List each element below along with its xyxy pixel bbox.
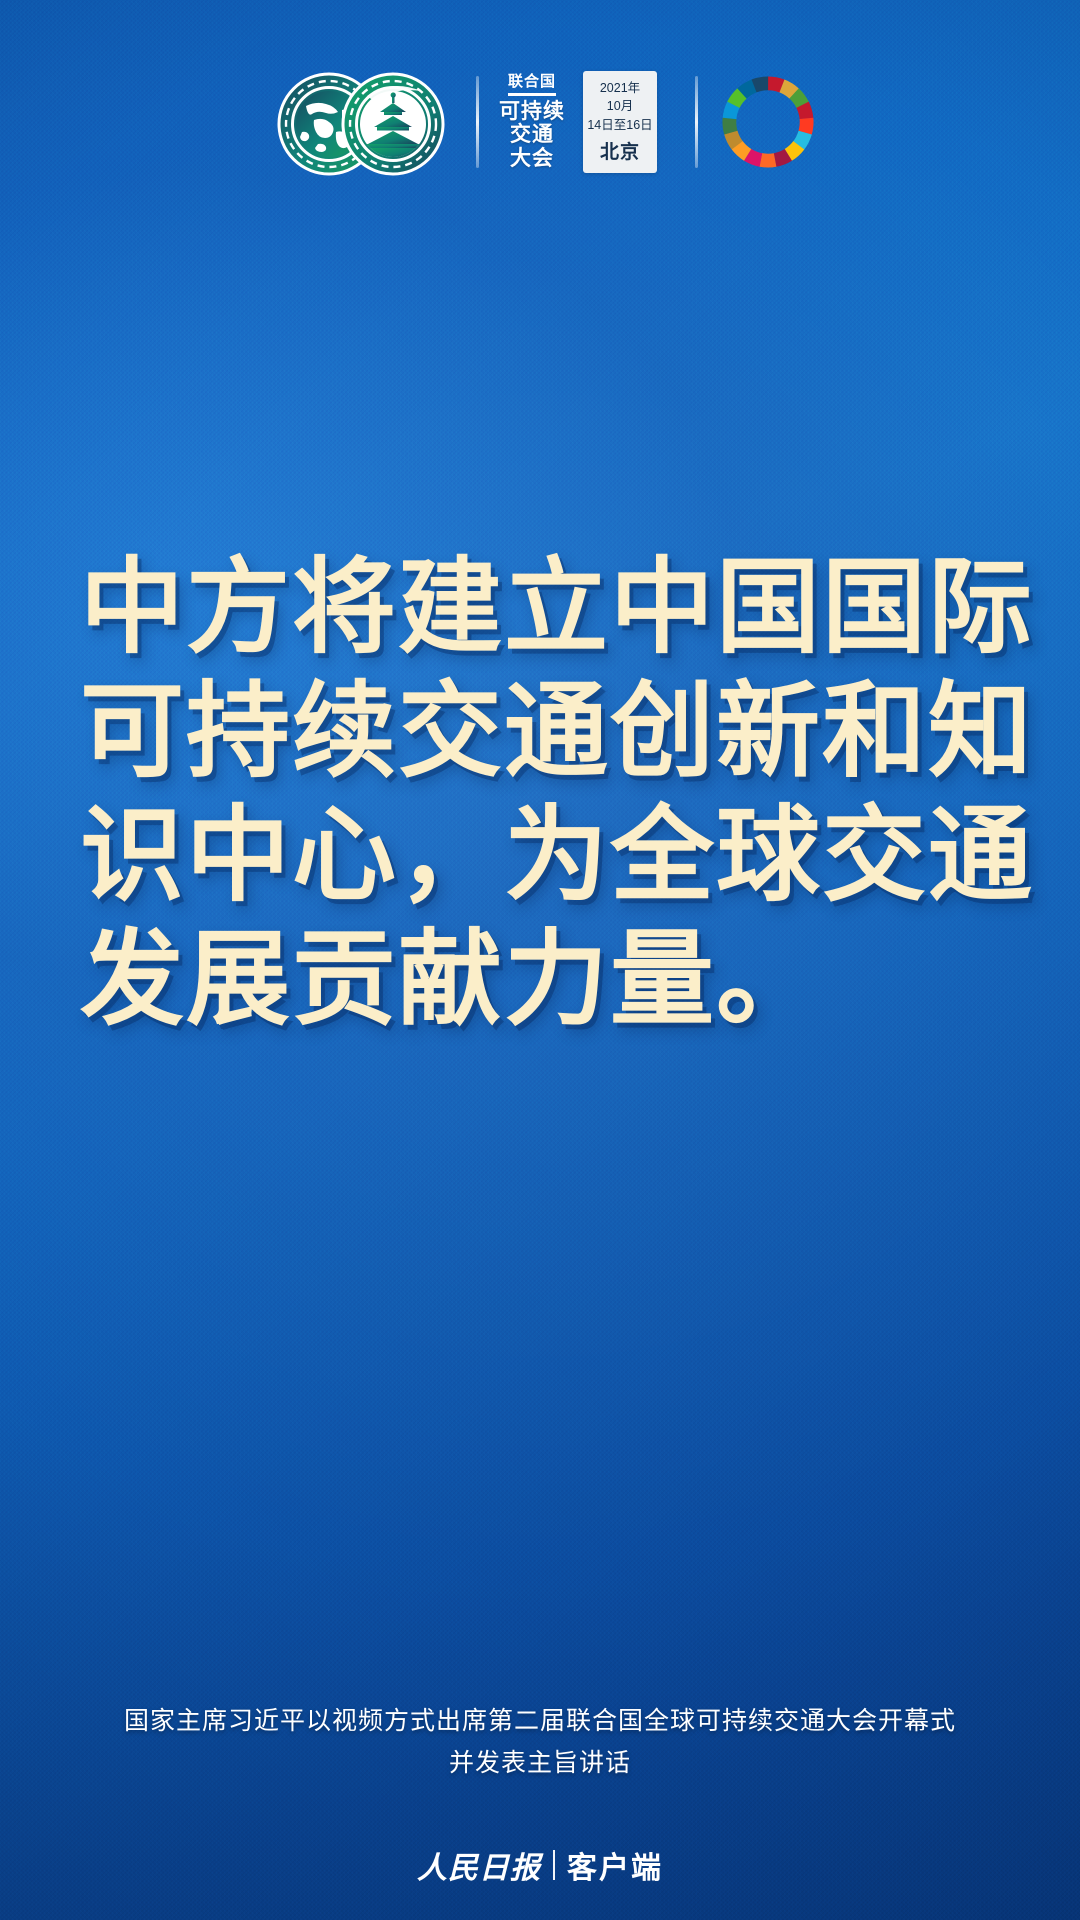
brand-divider-icon (553, 1850, 555, 1880)
conference-name-line-3: 大会 (510, 147, 554, 171)
headline-line-1: 中方将建立中国国际 (80, 545, 940, 669)
event-month: 10月 (607, 97, 633, 115)
headline-block: 中方将建立中国国际 可持续交通创新和知 识中心，为全球交通 发展贡献力量。 (80, 545, 940, 1041)
conference-logo-lockup: 联合国 可持续 交通 大会 2021年 10月 14日至16日 北京 (0, 62, 1080, 182)
product-name: 客户端 (567, 1843, 663, 1887)
event-year: 2021年 (600, 79, 640, 97)
caption-block: 国家主席习近平以视频方式出席第二届联合国全球可持续交通大会开幕式 并发表主旨讲话 (0, 1700, 1080, 1784)
caption-line-1: 国家主席习近平以视频方式出席第二届联合国全球可持续交通大会开幕式 (0, 1700, 1080, 1742)
publisher-brand: 人民日报 客户端 (0, 1843, 1080, 1887)
organization-label: 联合国 (508, 73, 556, 96)
sdg-color-wheel-icon (722, 76, 814, 168)
event-days: 14日至16日 (587, 116, 652, 134)
date-location-box: 2021年 10月 14日至16日 北京 (583, 71, 657, 172)
conference-name-line-1: 可持续 (499, 100, 565, 124)
conference-name-block: 联合国 可持续 交通 大会 (499, 67, 565, 177)
lockup-divider-2 (695, 76, 698, 168)
headline-line-4: 发展贡献力量。 (80, 917, 940, 1041)
publisher-name: 人民日报 (417, 1843, 541, 1887)
conference-name-line-2: 交通 (510, 123, 554, 147)
lockup-divider-1 (476, 76, 479, 168)
un-globe-temple-emblem-icon (266, 62, 456, 182)
caption-line-2: 并发表主旨讲话 (0, 1742, 1080, 1784)
event-city: 北京 (600, 137, 640, 164)
headline-line-3: 识中心，为全球交通 (80, 793, 940, 917)
headline-line-2: 可持续交通创新和知 (80, 669, 940, 793)
poster-canvas: 联合国 可持续 交通 大会 2021年 10月 14日至16日 北京 (0, 0, 1080, 1920)
